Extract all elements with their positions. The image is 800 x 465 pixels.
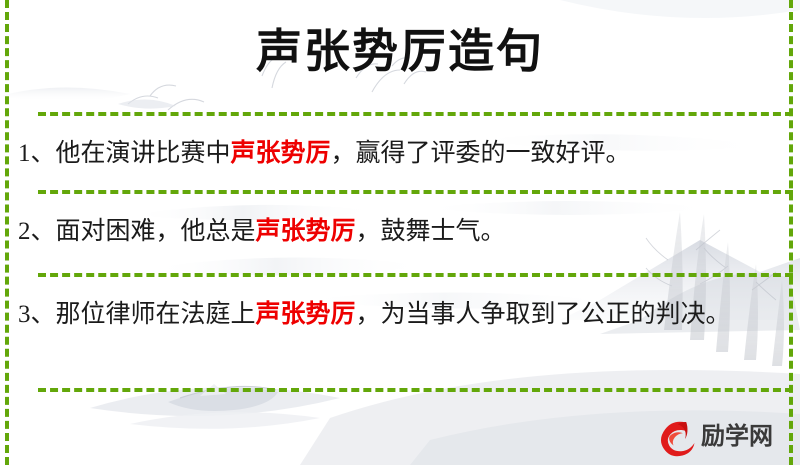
sentence-3-index: 3、 <box>18 301 56 328</box>
divider-line-2 <box>38 190 793 194</box>
sentence-3-keyword: 声张势厉 <box>256 301 356 328</box>
sentence-item-1: 1、他在演讲比赛中声张势厉，赢得了评委的一致好评。 <box>18 132 782 176</box>
sentence-item-3: 3、那位律师在法庭上声张势厉，为当事人争取到了公正的判决。 <box>18 293 782 337</box>
page-root: 声张势厉造句 1、他在演讲比赛中声张势厉，赢得了评委的一致好评。 2、面对困难，… <box>0 0 800 465</box>
watermark-logo-text: 励学网 <box>701 416 773 458</box>
divider-line-3 <box>38 273 793 277</box>
sentence-3-pre: 那位律师在法庭上 <box>56 301 256 328</box>
divider-line-4 <box>38 388 793 392</box>
red-swirl-flame-icon <box>655 416 697 458</box>
sentence-1-index: 1、 <box>18 140 56 167</box>
sentence-1-pre: 他在演讲比赛中 <box>56 140 231 167</box>
sentence-item-2: 2、面对困难，他总是声张势厉，鼓舞士气。 <box>18 210 782 254</box>
watermark-logo: 励学网 <box>655 414 790 460</box>
sentence-2-post: ，鼓舞士气。 <box>356 218 506 245</box>
divider-line-1 <box>38 112 793 116</box>
sentence-1-post: ，赢得了评委的一致好评。 <box>331 140 631 167</box>
sentence-3-post: ，为当事人争取到了公正的判决。 <box>356 301 731 328</box>
sentence-2-index: 2、 <box>18 218 56 245</box>
page-title: 声张势厉造句 <box>0 22 800 82</box>
sentence-1-keyword: 声张势厉 <box>231 140 331 167</box>
sentence-2-pre: 面对困难，他总是 <box>56 218 256 245</box>
sentence-2-keyword: 声张势厉 <box>256 218 356 245</box>
